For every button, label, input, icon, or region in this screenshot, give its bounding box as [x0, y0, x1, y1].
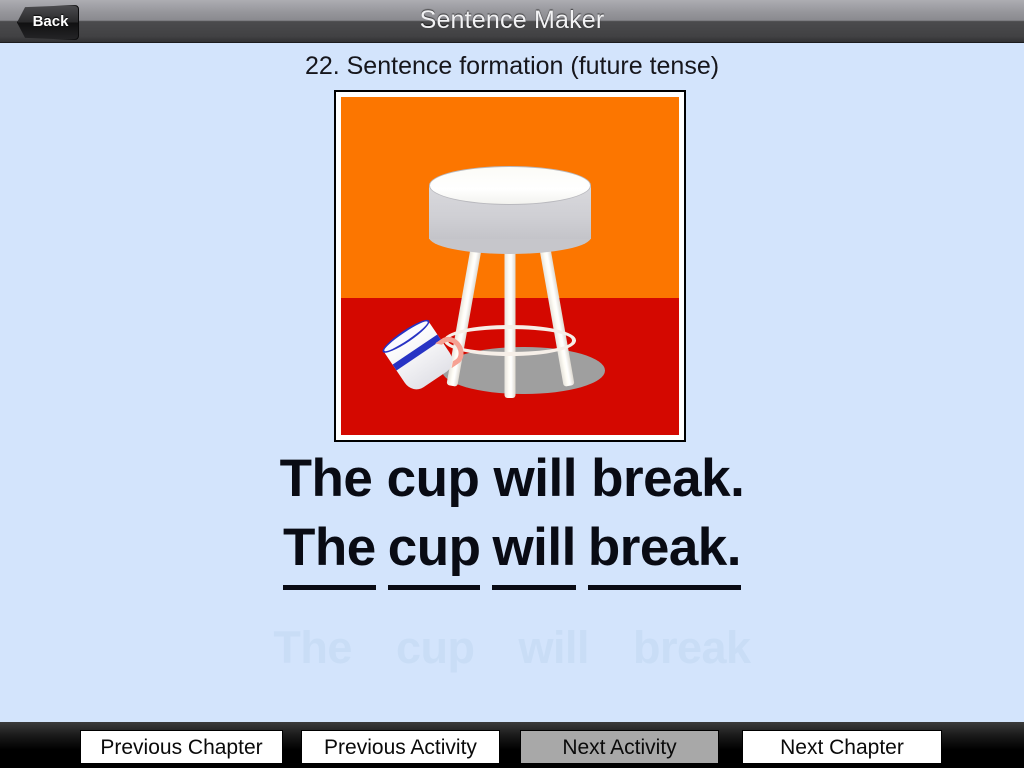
previous-chapter-button[interactable]: Previous Chapter — [80, 730, 283, 764]
activity-subtitle: 22. Sentence formation (future tense) — [0, 52, 1024, 81]
answer-slot[interactable]: cup — [388, 517, 481, 578]
sentence-display: The cup will break. — [0, 448, 1024, 509]
bottom-toolbar: Previous Chapter Previous Activity Next … — [0, 722, 1024, 768]
next-activity-button[interactable]: Next Activity — [520, 730, 719, 764]
word-bank: Thecupwillbreak — [0, 622, 1024, 674]
app-header: Sentence Maker Back — [0, 0, 1024, 43]
answer-slot[interactable]: will — [492, 517, 575, 578]
next-chapter-button[interactable]: Next Chapter — [742, 730, 942, 764]
answer-slot[interactable]: break. — [588, 517, 741, 578]
activity-picture-frame — [334, 90, 686, 442]
activity-picture — [341, 97, 679, 435]
word-tile[interactable]: cup — [396, 622, 475, 674]
stool-seat-top — [429, 166, 591, 205]
answer-slot[interactable]: The — [283, 517, 376, 578]
stool-leg-middle — [505, 246, 516, 398]
previous-activity-button[interactable]: Previous Activity — [301, 730, 500, 764]
word-tile[interactable]: break — [633, 622, 751, 674]
word-tile[interactable]: The — [273, 622, 352, 674]
word-tile[interactable]: will — [518, 622, 589, 674]
sentence-answer-slots: Thecupwillbreak. — [0, 517, 1024, 578]
back-button[interactable] — [17, 5, 79, 40]
page-title: Sentence Maker — [0, 0, 1024, 43]
